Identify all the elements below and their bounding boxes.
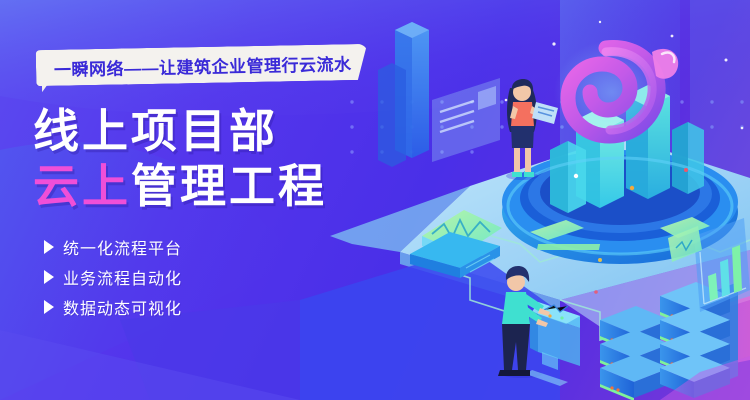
bullet-label: 数据动态可视化: [63, 295, 182, 319]
triangle-right-icon: [44, 270, 54, 284]
headline-accent: 云上: [33, 160, 131, 212]
ribbon-tail-icon: [42, 80, 51, 92]
text-column: 一瞬网络——让建筑企业管理行云流水 线上项目部 云上管理工程 统一化流程平台 业…: [0, 0, 430, 400]
bullet-label: 业务流程自动化: [63, 265, 182, 289]
list-item: 数据动态可视化: [44, 294, 182, 320]
headline-line-1: 线上项目部: [33, 108, 278, 154]
headline-rest: 管理工程: [131, 160, 327, 212]
promotional-banner: 一瞬网络——让建筑企业管理行云流水 线上项目部 云上管理工程 统一化流程平台 业…: [0, 0, 750, 400]
tagline-ribbon: 一瞬网络——让建筑企业管理行云流水: [36, 44, 368, 86]
list-item: 统一化流程平台: [44, 234, 182, 260]
tagline-text: 一瞬网络——让建筑企业管理行云流水: [54, 50, 352, 81]
feature-bullet-list: 统一化流程平台 业务流程自动化 数据动态可视化: [44, 234, 182, 324]
triangle-right-icon: [44, 300, 54, 314]
triangle-right-icon: [44, 240, 54, 254]
list-item: 业务流程自动化: [44, 264, 182, 290]
headline-line-2: 云上管理工程: [33, 163, 327, 209]
bullet-label: 统一化流程平台: [63, 235, 182, 259]
